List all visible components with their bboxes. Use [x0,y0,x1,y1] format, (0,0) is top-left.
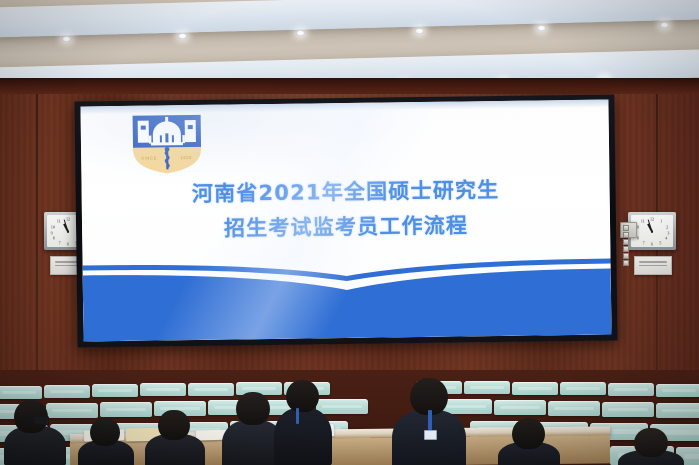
auditorium-seat[interactable] [548,401,600,416]
shield-logo-svg: SINCE 1928 [129,113,206,176]
auditorium-seat[interactable] [44,385,90,398]
university-shield-logo: SINCE 1928 [129,113,206,176]
auditorium-seat[interactable] [494,400,546,415]
lanyard [296,408,299,424]
wall-upper-shadow [0,78,699,94]
switch-key[interactable] [623,239,629,245]
switch-key[interactable] [623,253,629,259]
attendee-6 [392,378,466,465]
clock-center-pin [67,231,69,233]
switch-key[interactable] [623,246,629,252]
id-badge [424,430,437,440]
switch-key[interactable] [623,232,629,238]
light-switch-panel-right[interactable] [620,222,637,238]
auditorium-seat[interactable] [560,382,606,395]
downlight [660,22,669,28]
auditorium-seat[interactable] [656,384,699,397]
conference-hall-scene: 12 1 2 3 4 5 6 7 8 9 10 11 [0,0,699,465]
switch-key[interactable] [623,260,629,266]
attendee-2 [78,418,134,465]
auditorium-seat[interactable] [140,383,186,396]
attendee-head [286,380,319,412]
plaque-right [634,256,672,275]
auditorium-seat[interactable] [608,383,654,396]
attendee-8 [618,428,684,465]
auditorium-seat[interactable] [92,384,138,397]
downlight [537,25,546,31]
downlight [62,36,71,42]
auditorium-seat[interactable] [464,381,510,394]
downlight [415,28,424,34]
attendee-5 [274,380,332,465]
attendee-7 [498,418,560,465]
auditorium-seat[interactable] [602,402,654,417]
plaque-text-line [639,265,667,267]
slide-title: 河南省2021年全国硕士研究生 招生考试监考员工作流程 [81,172,610,249]
switch-key[interactable] [623,225,629,231]
open-book-decoration [82,247,611,342]
glasses-icon [34,416,49,425]
svg-text:1928: 1928 [180,155,192,160]
auditorium-seat[interactable] [0,386,42,399]
attendee-head [158,410,190,440]
screen-display-area[interactable]: SINCE 1928 河南省2021年全国硕士研究生 招生考试监考员工作流程 [80,100,611,342]
downlight [296,30,305,36]
downlight [178,33,187,39]
lanyard [428,410,432,430]
attendee-1 [4,400,66,465]
attendee-head [634,428,668,457]
open-book-svg [82,247,611,342]
projection-screen[interactable]: SINCE 1928 河南省2021年全国硕士研究生 招生考试监考员工作流程 [74,94,617,347]
auditorium-seat[interactable] [656,403,699,418]
attendee-body [274,408,332,465]
attendee-3 [145,410,205,465]
slide-title-line-2: 招生考试监考员工作流程 [82,207,610,249]
attendee-head [236,392,270,425]
svg-text:SINCE: SINCE [141,155,157,160]
auditorium-seat[interactable] [512,382,558,395]
clock-face: 12 1 2 3 4 5 6 7 8 9 10 11 [631,215,673,247]
plaque-text-line [639,261,667,263]
attendee-head [90,418,120,446]
clock-center-pin [651,231,653,233]
attendee-head [512,418,545,449]
